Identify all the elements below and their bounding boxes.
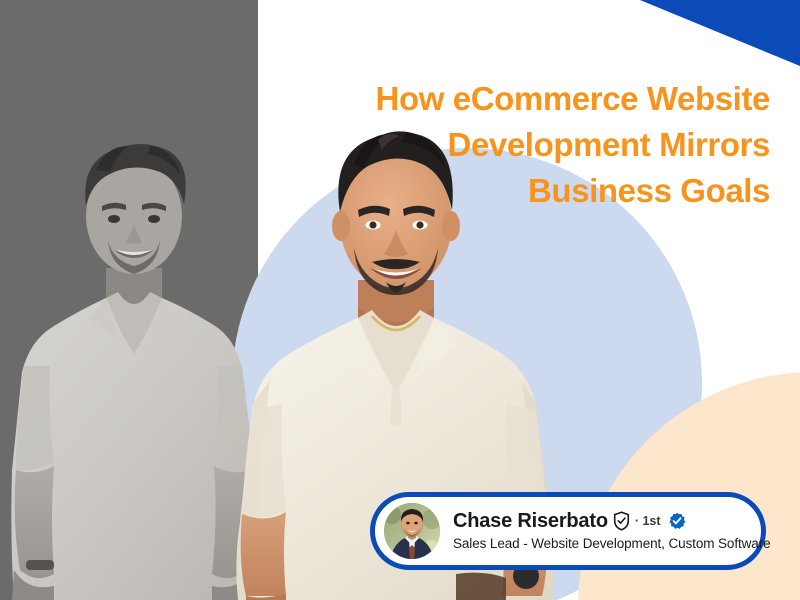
profile-subtitle: Sales Lead - Website Development, Custom…: [453, 536, 771, 551]
promo-graphic: How eCommerce Website Development Mirror…: [0, 0, 800, 600]
left-grayscale-portrait: [10, 140, 258, 600]
blue-corner-triangle: [640, 0, 800, 66]
shield-icon: [613, 511, 630, 531]
profile-name: Chase Riserbato: [453, 511, 608, 531]
avatar: [384, 503, 440, 559]
profile-name-row: Chase Riserbato · 1st: [453, 511, 771, 531]
headline-line-1: How eCommerce Website: [320, 76, 770, 122]
headline-line-2: Development Mirrors: [320, 122, 770, 168]
headline: How eCommerce Website Development Mirror…: [320, 76, 770, 214]
profile-card[interactable]: Chase Riserbato · 1st Sales Lead - Websi…: [370, 492, 766, 570]
verified-badge-icon: [668, 512, 686, 530]
connection-degree: · 1st: [635, 515, 661, 528]
profile-card-text: Chase Riserbato · 1st Sales Lead - Websi…: [453, 511, 771, 551]
headline-line-3: Business Goals: [320, 168, 770, 214]
